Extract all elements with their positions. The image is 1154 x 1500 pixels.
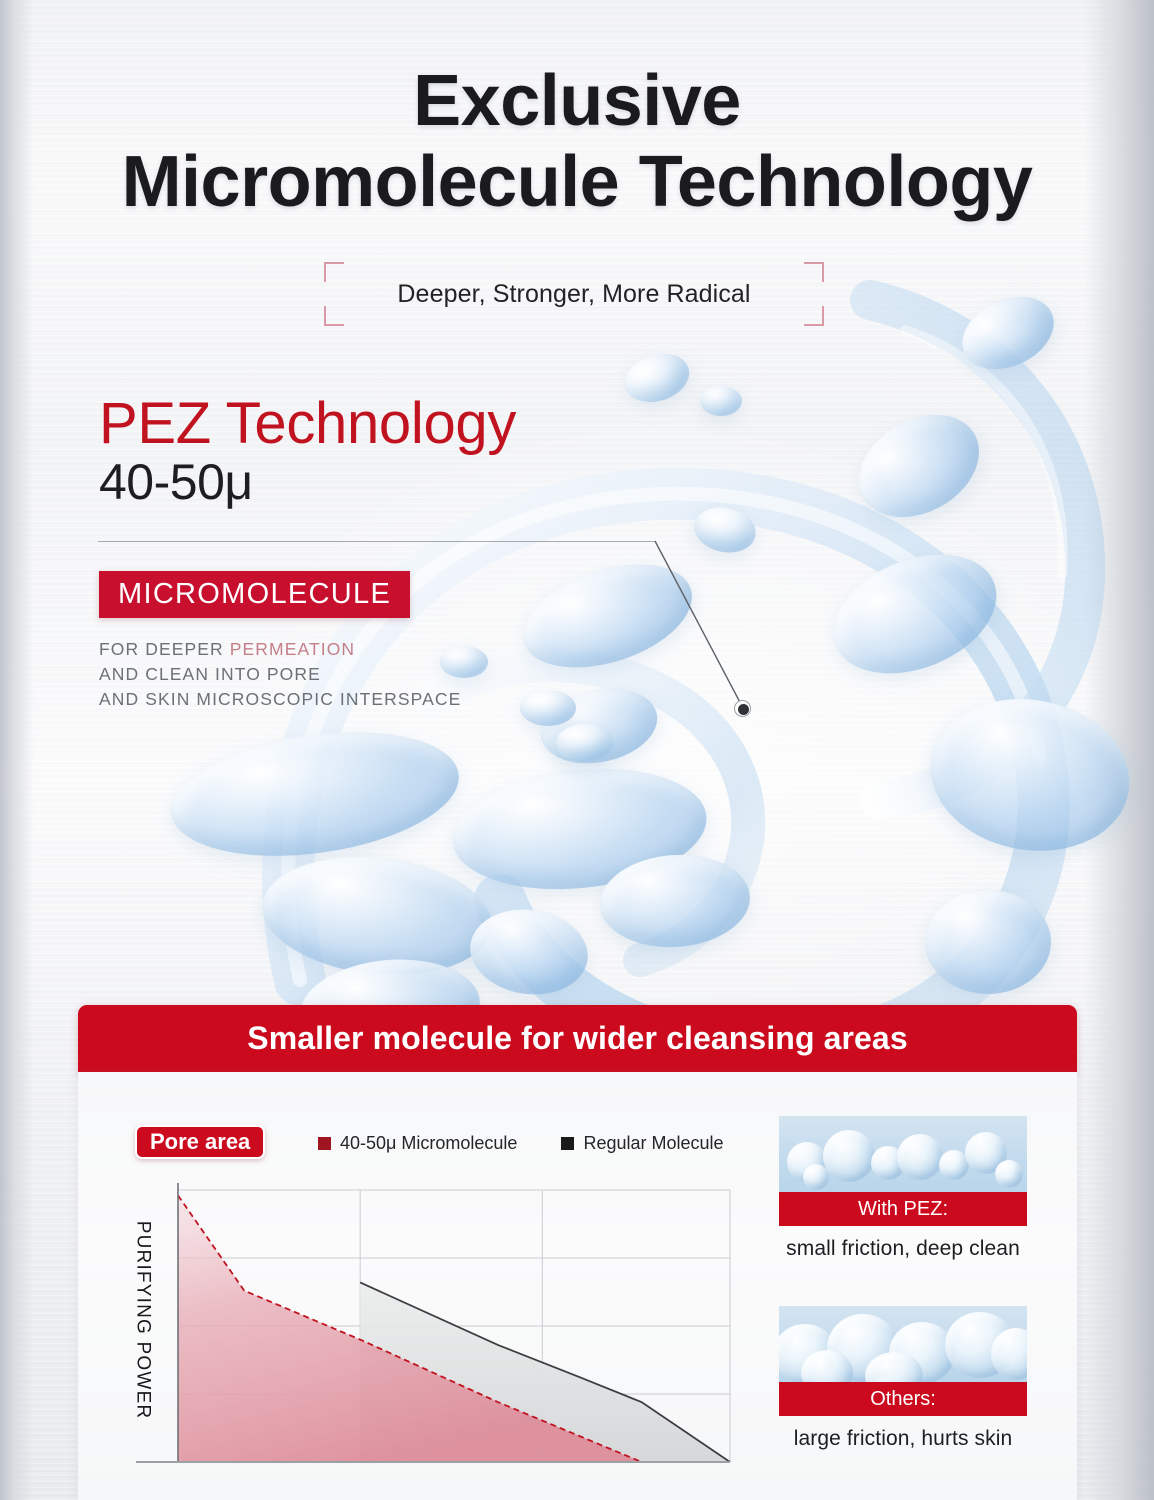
legend-swatch-micromolecule-icon bbox=[318, 1137, 331, 1150]
title-line-2: Micromolecule Technology bbox=[0, 147, 1154, 218]
panel-others: Others: large friction, hurts skin bbox=[779, 1306, 1027, 1451]
gel-bubble bbox=[520, 690, 576, 726]
micromolecule-badge: MICROMOLECULE bbox=[99, 571, 410, 618]
legend-item-micromolecule: 40-50μ Micromolecule bbox=[318, 1133, 517, 1154]
description-line-1-prefix: FOR DEEPER bbox=[99, 639, 230, 659]
legend-label-regular: Regular Molecule bbox=[583, 1133, 723, 1154]
panel-image-others bbox=[779, 1306, 1027, 1382]
panel-caption-others: Others: bbox=[779, 1382, 1027, 1416]
gel-bubble bbox=[556, 724, 614, 762]
bubble-icon bbox=[897, 1134, 943, 1180]
chart-legend: 40-50μ Micromolecule Regular Molecule bbox=[318, 1133, 724, 1154]
bubble-icon bbox=[803, 1164, 829, 1190]
comparison-banner-text: Smaller molecule for wider cleansing are… bbox=[247, 1020, 907, 1057]
gel-bubble bbox=[700, 386, 742, 416]
tagline-text: Deeper, Stronger, More Radical bbox=[324, 262, 824, 326]
pez-technology-title: PEZ Technology bbox=[99, 395, 516, 453]
legend-label-micromolecule: 40-50μ Micromolecule bbox=[340, 1133, 517, 1154]
chart-series bbox=[178, 1195, 730, 1462]
legend-swatch-regular-icon bbox=[561, 1137, 574, 1150]
description-line-2: AND CLEAN INTO PORE bbox=[99, 662, 461, 687]
callout-target-dot-icon bbox=[734, 700, 751, 717]
gel-blob bbox=[925, 890, 1051, 994]
panel-image-with-pez bbox=[779, 1116, 1027, 1192]
bubble-icon bbox=[823, 1130, 875, 1182]
description-line-1: FOR DEEPER PERMEATION bbox=[99, 637, 461, 662]
panel-subtitle-with-pez: small friction, deep clean bbox=[779, 1237, 1027, 1261]
panel-caption-with-pez: With PEZ: bbox=[779, 1192, 1027, 1226]
page-title: Exclusive Micromolecule Technology bbox=[0, 66, 1154, 217]
pore-area-badge: Pore area bbox=[135, 1125, 265, 1159]
chart-y-axis-label: PURIFYING POWER bbox=[127, 1175, 157, 1465]
title-line-1: Exclusive bbox=[0, 66, 1154, 137]
tagline-frame: Deeper, Stronger, More Radical bbox=[324, 262, 824, 326]
bubble-icon bbox=[995, 1160, 1023, 1188]
description-highlight-permeation: PERMEATION bbox=[230, 639, 355, 659]
legend-item-regular: Regular Molecule bbox=[561, 1133, 723, 1154]
purifying-power-chart: PURIFYING POWER bbox=[130, 1175, 750, 1475]
infographic-stage: Exclusive Micromolecule Technology Deepe… bbox=[0, 0, 1154, 1500]
panel-subtitle-others: large friction, hurts skin bbox=[779, 1427, 1027, 1451]
callout-horizontal-line bbox=[98, 541, 655, 542]
comparison-banner: Smaller molecule for wider cleansing are… bbox=[78, 1005, 1077, 1072]
chart-plot-area bbox=[130, 1175, 750, 1475]
chart-y-axis-label-text: PURIFYING POWER bbox=[131, 1221, 153, 1420]
micromolecule-description: FOR DEEPER PERMEATION AND CLEAN INTO POR… bbox=[99, 637, 461, 712]
panel-with-pez: With PEZ: small friction, deep clean bbox=[779, 1116, 1027, 1261]
pez-size-value: 40-50μ bbox=[99, 457, 253, 507]
description-line-3: AND SKIN MICROSCOPIC INTERSPACE bbox=[99, 687, 461, 712]
